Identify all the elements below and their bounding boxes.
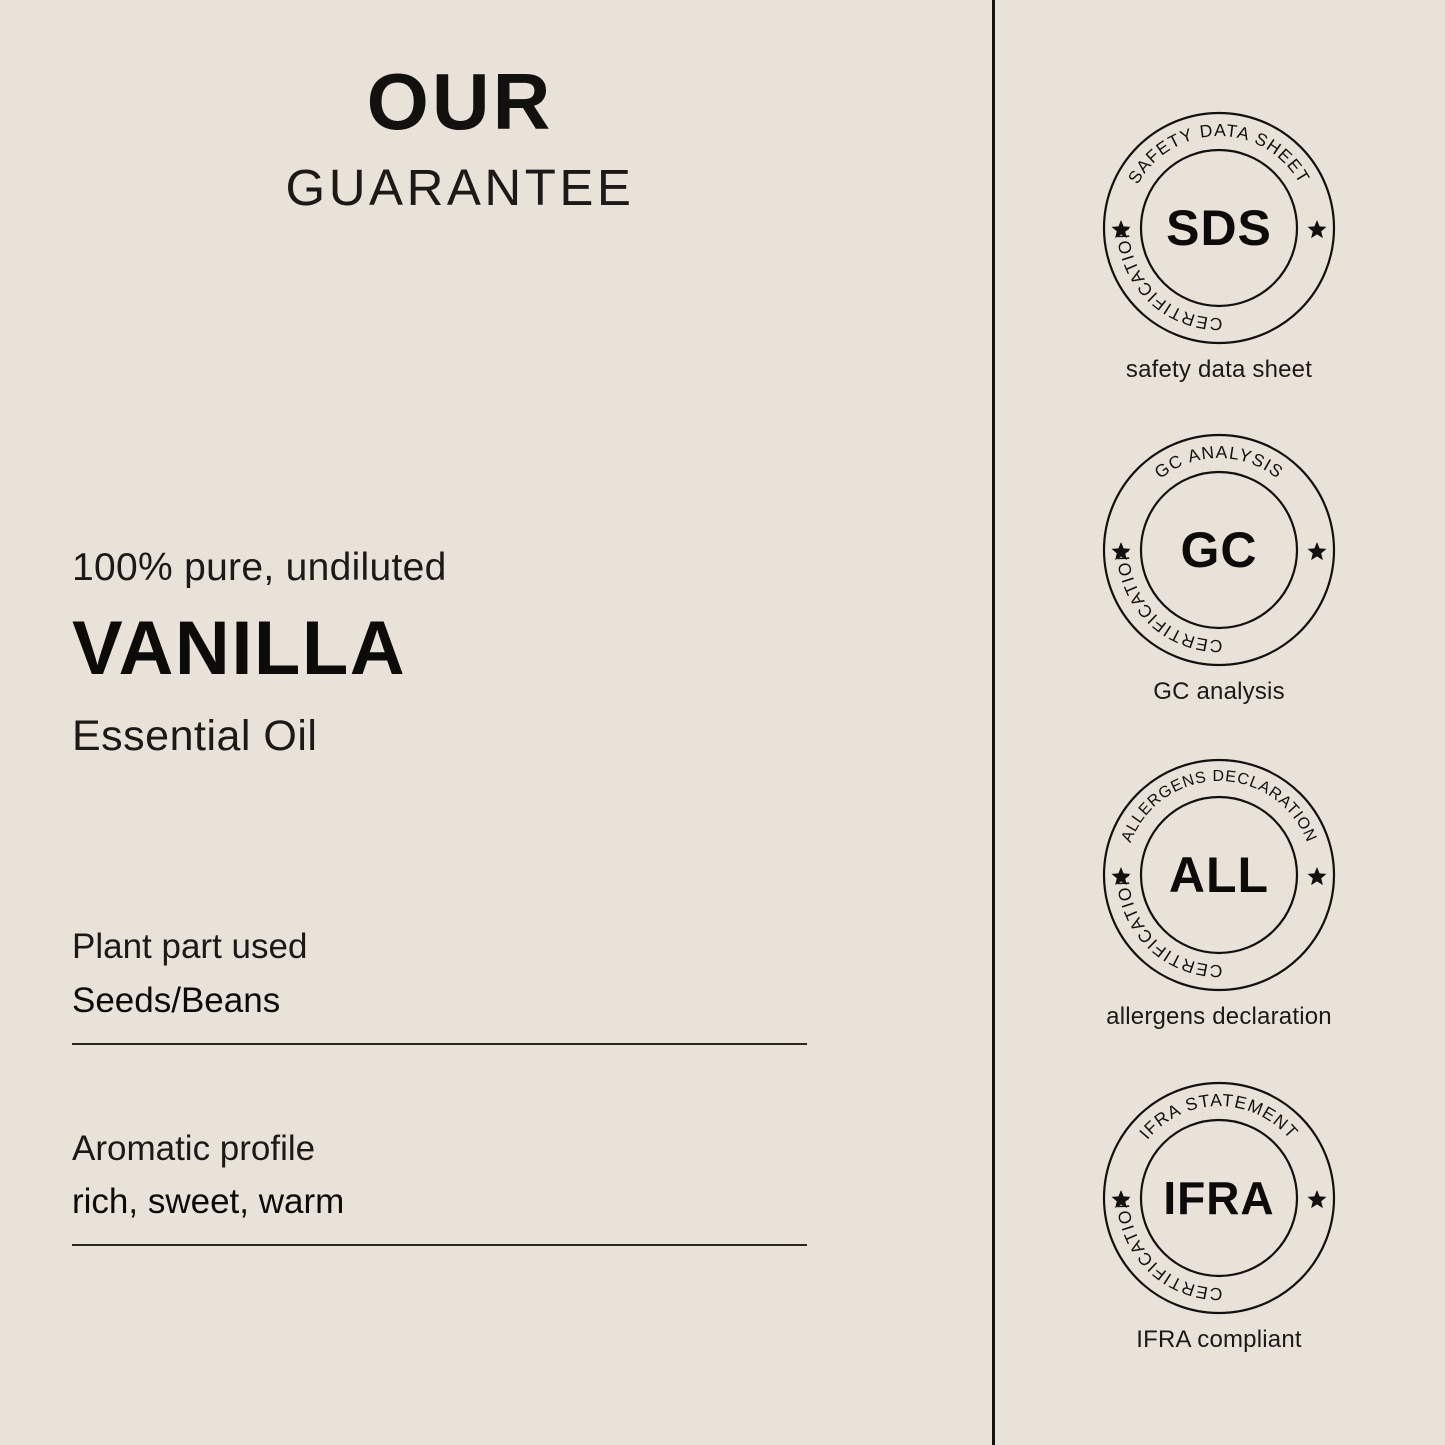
attribute-row: Plant part used Seeds/Beans — [72, 925, 807, 1045]
badge-caption: safety data sheet — [993, 356, 1445, 385]
product-name: VANILLA — [72, 609, 872, 689]
certification-seal-icon: SAFETY DATA SHEET CERTIFICATION SDS — [1099, 108, 1339, 348]
svg-text:SAFETY DATA SHEET: SAFETY DATA SHEET — [1124, 120, 1314, 187]
seal-star-right-icon — [1308, 867, 1327, 885]
certifications-right-panel: SAFETY DATA SHEET CERTIFICATION SDS safe… — [993, 0, 1445, 1445]
attribute-value: Seeds/Beans — [72, 979, 807, 1023]
attribute-label: Aromatic profile — [72, 1127, 807, 1171]
seal-abbreviation: IFRA — [1163, 1172, 1274, 1224]
certification-badge: GC ANALYSIS CERTIFICATION GC GC analysis — [993, 430, 1445, 707]
product-type: Essential Oil — [72, 713, 872, 760]
page-title-secondary: GUARANTEE — [0, 162, 920, 213]
badge-caption: allergens declaration — [993, 1003, 1445, 1032]
seal-star-right-icon — [1308, 1190, 1327, 1208]
attribute-label: Plant part used — [72, 925, 807, 969]
page-title-primary: OUR — [0, 62, 920, 142]
svg-text:ALLERGENS DECLARATION: ALLERGENS DECLARATION — [1118, 768, 1319, 845]
product-guarantee-page: OUR GUARANTEE 100% pure, undiluted VANIL… — [0, 0, 1445, 1445]
seal-star-right-icon — [1308, 542, 1327, 560]
seal-abbreviation: ALL — [1169, 847, 1269, 903]
certification-seal-icon: GC ANALYSIS CERTIFICATION GC — [1099, 430, 1339, 670]
attribute-value: rich, sweet, warm — [72, 1180, 807, 1224]
seal-top-text: GC ANALYSIS — [1151, 442, 1288, 483]
svg-text:GC ANALYSIS: GC ANALYSIS — [1151, 442, 1288, 483]
badge-caption: GC analysis — [993, 678, 1445, 707]
seal-abbreviation: GC — [1181, 522, 1258, 578]
certification-seal-icon: ALLERGENS DECLARATION CERTIFICATION ALL — [1099, 755, 1339, 995]
seal-top-text: SAFETY DATA SHEET — [1124, 120, 1314, 187]
product-purity-statement: 100% pure, undiluted — [72, 546, 872, 591]
certification-badge: ALLERGENS DECLARATION CERTIFICATION ALL … — [993, 755, 1445, 1032]
attribute-row: Aromatic profile rich, sweet, warm — [72, 1127, 807, 1247]
certification-badge-list: SAFETY DATA SHEET CERTIFICATION SDS safe… — [993, 0, 1445, 1445]
page-header: OUR GUARANTEE — [0, 62, 920, 213]
seal-abbreviation: SDS — [1166, 200, 1272, 256]
certification-badge: IFRA STATEMENT CERTIFICATION IFRA IFRA c… — [993, 1078, 1445, 1355]
product-identity-block: 100% pure, undiluted VANILLA Essential O… — [72, 546, 872, 760]
product-attributes-list: Plant part used Seeds/Beans Aromatic pro… — [72, 925, 807, 1246]
seal-top-text: ALLERGENS DECLARATION — [1118, 768, 1319, 845]
certification-badge: SAFETY DATA SHEET CERTIFICATION SDS safe… — [993, 108, 1445, 385]
seal-star-right-icon — [1308, 220, 1327, 238]
certification-seal-icon: IFRA STATEMENT CERTIFICATION IFRA — [1099, 1078, 1339, 1318]
guarantee-left-panel: OUR GUARANTEE 100% pure, undiluted VANIL… — [0, 0, 993, 1445]
badge-caption: IFRA compliant — [993, 1326, 1445, 1355]
